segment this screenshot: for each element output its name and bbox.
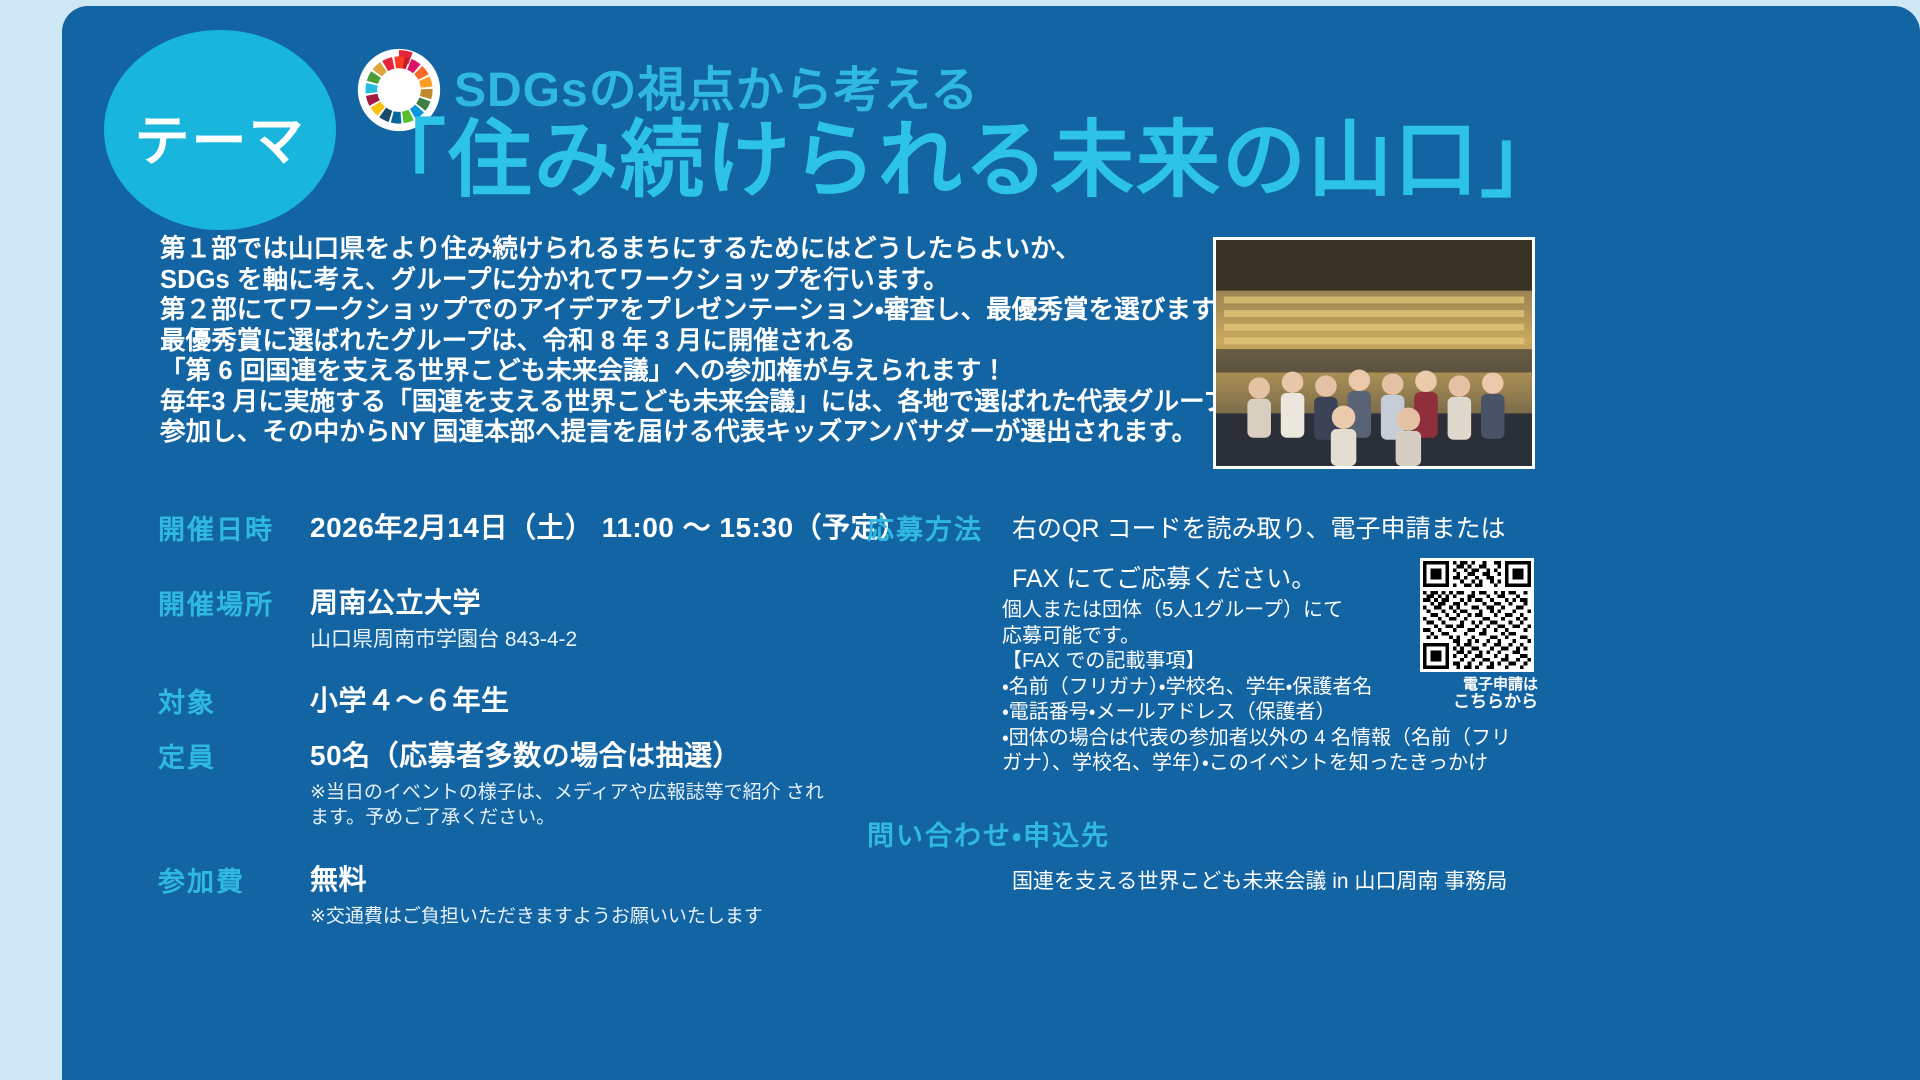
detail-value-capacity: 50名（応募者多数の場合は抽選） (310, 734, 998, 774)
qr-caption-line1: 電子申請は (1463, 676, 1538, 693)
detail-label-fee: 参加費 (158, 858, 310, 899)
detail-fee-note: ※交通費はご負担いただきますようお願いいたします (310, 904, 910, 929)
detail-row-fee: 参加費 無料 ※交通費はご負担いただきますようお願いいたします (158, 858, 998, 929)
intro-line: 第２部にてワークショップでのアイデアをプレゼンテーション・審査し、最優秀賞を選び… (160, 295, 1200, 326)
detail-label-capacity: 定員 (158, 734, 310, 775)
apply-body-line: ・団体の場合は代表の参加者以外の 4 名情報（名前（フリ (1002, 726, 1562, 752)
detail-value-target: 小学４～６年生 (310, 679, 998, 719)
theme-badge: テーマ (104, 30, 336, 230)
theme-badge-label: テーマ (134, 96, 305, 176)
detail-label-target: 対象 (158, 679, 310, 720)
detail-row-venue: 開催場所 周南公立大学 山口県周南市学園台 843-4-2 (158, 581, 998, 653)
detail-label-venue: 開催場所 (158, 581, 310, 622)
intro-line: 毎年3 月に実施する「国連を支える世界こども未来会議」には、各地で選ばれた代表グ… (160, 387, 1200, 418)
event-details-list: 開催日時 2026年2月14日（土） 11:00 ～ 15:30（予定） 開催場… (158, 506, 998, 929)
poster-headline: 「住み続けられる未来の山口」 (362, 116, 1566, 204)
poster-screenshot: テーマ (0, 0, 1920, 1080)
intro-line: 第１部では山口県をより住み続けられるまちにするためにはどうしたらよいか、 (160, 234, 1200, 265)
apply-method-label: 応募方法 (867, 508, 983, 547)
event-photo (1213, 237, 1535, 469)
detail-capacity-note-line1: ※当日のイベントの様子は、メディアや広報誌等で紹介 され (310, 782, 824, 803)
poster-card: テーマ (62, 6, 1920, 1080)
detail-venue-address: 山口県周南市学園台 843-4-2 (310, 627, 998, 653)
detail-label-datetime: 開催日時 (158, 506, 310, 547)
poster-subtitle: SDGsの視点から考える (454, 50, 979, 120)
detail-value-fee: 無料 (310, 858, 998, 898)
apply-lead-line1: 右のQR コードを読み取り、電子申請または (1012, 504, 1557, 554)
qr-code-icon[interactable] (1420, 558, 1534, 672)
detail-value-venue: 周南公立大学 (310, 581, 998, 621)
detail-capacity-note: ※当日のイベントの様子は、メディアや広報誌等で紹介 され ます。予めご了承くださ… (310, 780, 910, 830)
contact-label: 問い合わせ・申込先 (867, 814, 1110, 853)
qr-caption-line2: こちらから (1453, 692, 1538, 711)
intro-line: SDGs を軸に考え、グループに分かれてワークショップを行います。 (160, 265, 1200, 296)
intro-paragraph: 第１部では山口県をより住み続けられるまちにするためにはどうしたらよいか、 SDG… (160, 234, 1200, 448)
intro-line: 最優秀賞に選ばれたグループは、令和 8 年 3 月に開催される (160, 326, 1200, 357)
qr-caption: 電子申請は こちらから (1420, 676, 1538, 711)
detail-capacity-note-line2: ます。予めご了承ください。 (310, 807, 555, 828)
qr-block: 電子申請は こちらから (1420, 558, 1538, 711)
poster-header: テーマ (62, 6, 1920, 221)
intro-line: 「第 6 回国連を支える世界こども未来会議」への参加権が与えられます！ (160, 356, 1200, 387)
intro-line: 参加し、その中からNY 国連本部へ提言を届ける代表キッズアンバサダーが選出されま… (160, 417, 1200, 448)
apply-body-line: ガナ）、学校名、学年）・このイベントを知ったきっかけ (1002, 751, 1562, 777)
detail-row-target: 対象 小学４～６年生 (158, 679, 998, 720)
contact-body: 国連を支える世界こども未来会議 in 山口周南 事務局 (1012, 868, 1572, 895)
